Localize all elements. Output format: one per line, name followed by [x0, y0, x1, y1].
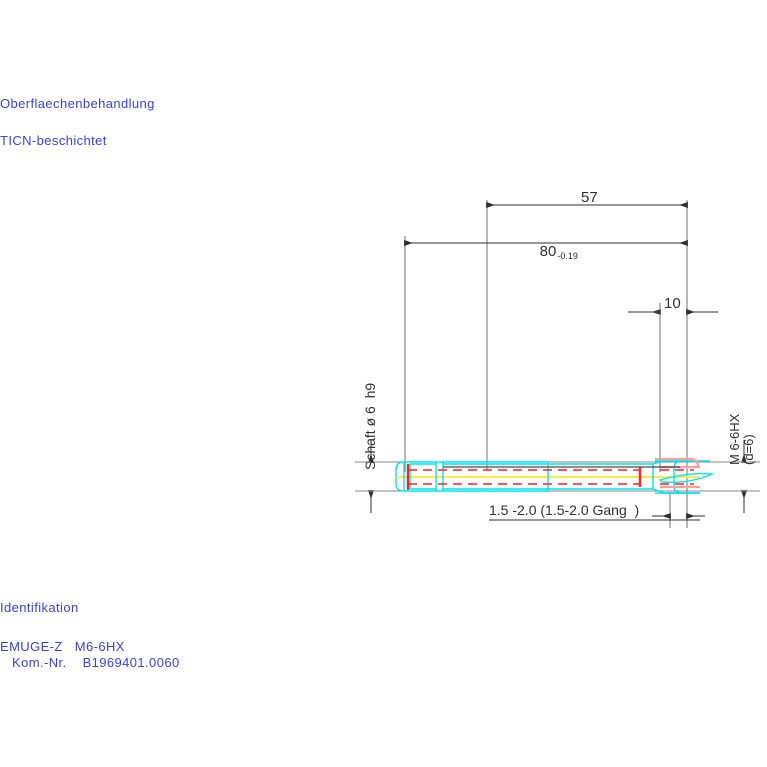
label-thread-designation: M 6-6HX: [727, 414, 742, 465]
dimension-value-10: 10: [664, 295, 681, 312]
dimension-value-80: 80: [540, 243, 557, 260]
dimension-value-80-group: 80-0.19: [523, 226, 577, 277]
drawing-geometry: [0, 0, 767, 767]
dimension-value-57: 57: [581, 189, 598, 206]
label-thread-nominal-diameter: (d=6): [741, 434, 756, 465]
part-geometry: [355, 459, 760, 493]
dimension-value-pitch: 1.5 -2.0 (1.5-2.0 Gang ): [489, 502, 639, 518]
dimension-tolerance-80: -0.19: [557, 251, 578, 261]
drawing-canvas: Oberflaechenbehandlung TICN-beschichtet …: [0, 0, 767, 767]
label-shank-diameter: Schaft ø 6 h9: [362, 383, 378, 470]
